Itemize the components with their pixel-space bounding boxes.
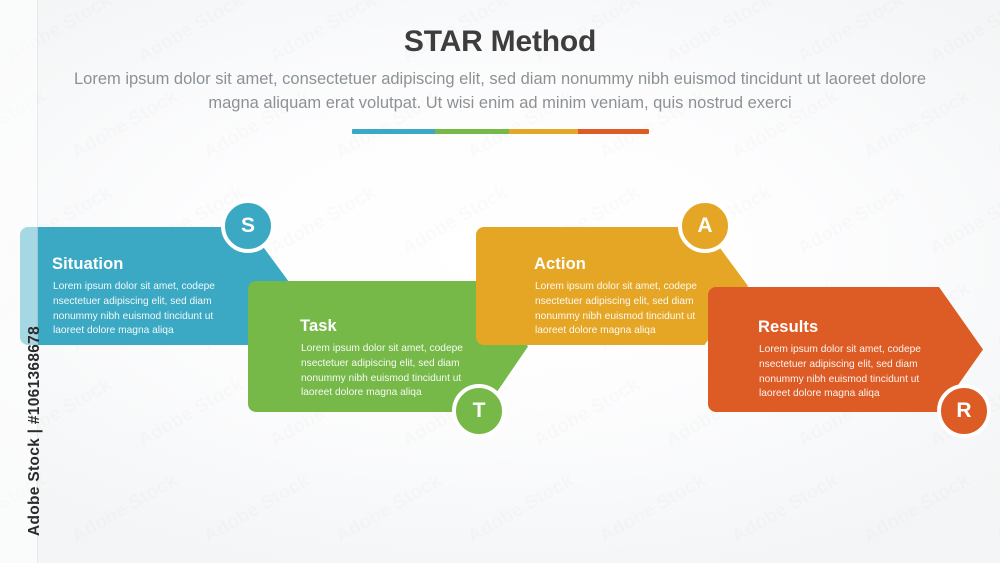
watermark-text: Adobe Stock <box>794 182 907 260</box>
step-title-situation: Situation <box>52 255 123 274</box>
step-letter-task: T <box>473 399 486 423</box>
watermark-text: Adobe Stock <box>992 470 1000 548</box>
page-subtitle: Lorem ipsum dolor sit amet, consectetuer… <box>60 59 940 116</box>
step-description-results: Lorem ipsum dolor sit amet, codepe nsect… <box>759 343 951 402</box>
divider-segment-green <box>435 129 509 134</box>
step-badge-situation[interactable]: S <box>221 199 275 253</box>
step-title-results: Results <box>758 318 818 337</box>
step-title-task: Task <box>300 317 337 336</box>
watermark-text: Adobe Stock <box>530 374 643 452</box>
step-card-results[interactable]: Results Lorem ipsum dolor sit amet, code… <box>708 287 983 412</box>
divider-segment-red <box>578 129 649 134</box>
step-description-situation: Lorem ipsum dolor sit amet, codepe nsect… <box>53 280 245 339</box>
step-title-action: Action <box>534 255 586 274</box>
divider-segment-orange <box>509 129 577 134</box>
step-letter-action: A <box>697 214 712 238</box>
watermark-text: Adobe Stock <box>728 470 841 548</box>
watermark-text: Adobe Stock <box>332 470 445 548</box>
step-badge-task[interactable]: T <box>452 384 506 438</box>
color-divider-bar <box>352 129 649 134</box>
divider-segment-blue <box>352 129 435 134</box>
step-badge-action[interactable]: A <box>678 199 732 253</box>
watermark-text: Adobe Stock <box>860 470 973 548</box>
step-letter-situation: S <box>241 214 255 238</box>
watermark-text: Adobe Stock <box>992 278 1000 356</box>
step-letter-results: R <box>956 399 971 423</box>
step-badge-results[interactable]: R <box>937 384 991 438</box>
watermark-text: Adobe Stock <box>926 182 1000 260</box>
watermark-text: Adobe Stock <box>200 470 313 548</box>
watermark-text: Adobe Stock <box>464 470 577 548</box>
header: STAR Method Lorem ipsum dolor sit amet, … <box>0 0 1000 116</box>
watermark-text: Adobe Stock <box>596 470 709 548</box>
step-description-action: Lorem ipsum dolor sit amet, codepe nsect… <box>535 280 727 339</box>
infographic-canvas: Adobe StockAdobe StockAdobe StockAdobe S… <box>0 0 1000 563</box>
watermark-text: Adobe Stock <box>68 470 181 548</box>
watermark-text: Adobe Stock <box>134 374 247 452</box>
page-title: STAR Method <box>0 0 1000 59</box>
stock-credit-label: Adobe Stock | #1061368678 <box>26 66 44 536</box>
